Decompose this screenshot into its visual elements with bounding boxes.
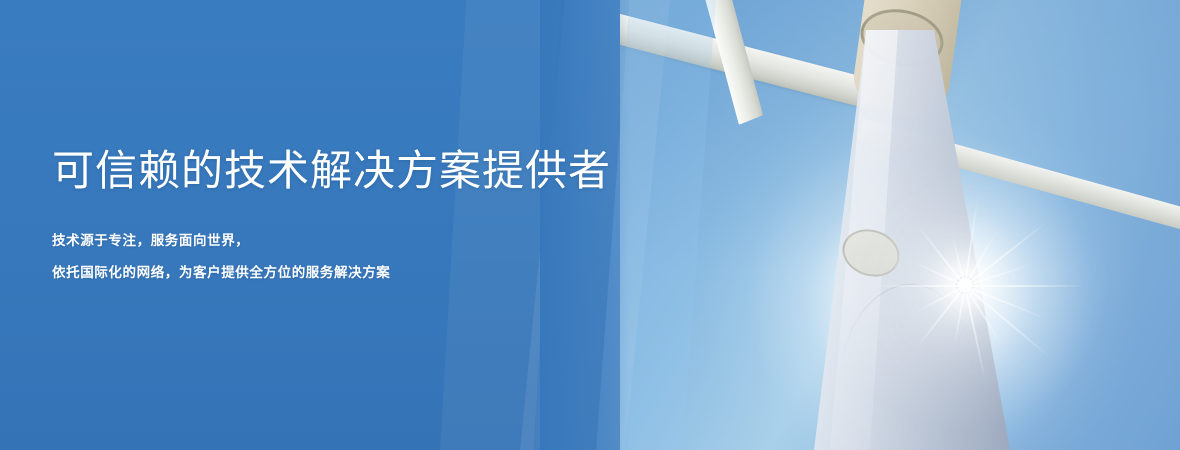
hero-text-block: 可信赖的技术解决方案提供者 技术源于专注，服务面向世界， 依托国际化的网络，为客… xyxy=(52,148,652,289)
page-title: 可信赖的技术解决方案提供者 xyxy=(52,148,652,193)
hero-banner: 可信赖的技术解决方案提供者 技术源于专注，服务面向世界， 依托国际化的网络，为客… xyxy=(0,0,1180,450)
hero-subtitle-line-1: 技术源于专注，服务面向世界， xyxy=(52,225,652,257)
hero-subtitle-line-2: 依托国际化的网络，为客户提供全方位的服务解决方案 xyxy=(52,257,652,289)
hero-subtitle: 技术源于专注，服务面向世界， 依托国际化的网络，为客户提供全方位的服务解决方案 xyxy=(52,225,652,288)
sun-core xyxy=(956,276,974,294)
